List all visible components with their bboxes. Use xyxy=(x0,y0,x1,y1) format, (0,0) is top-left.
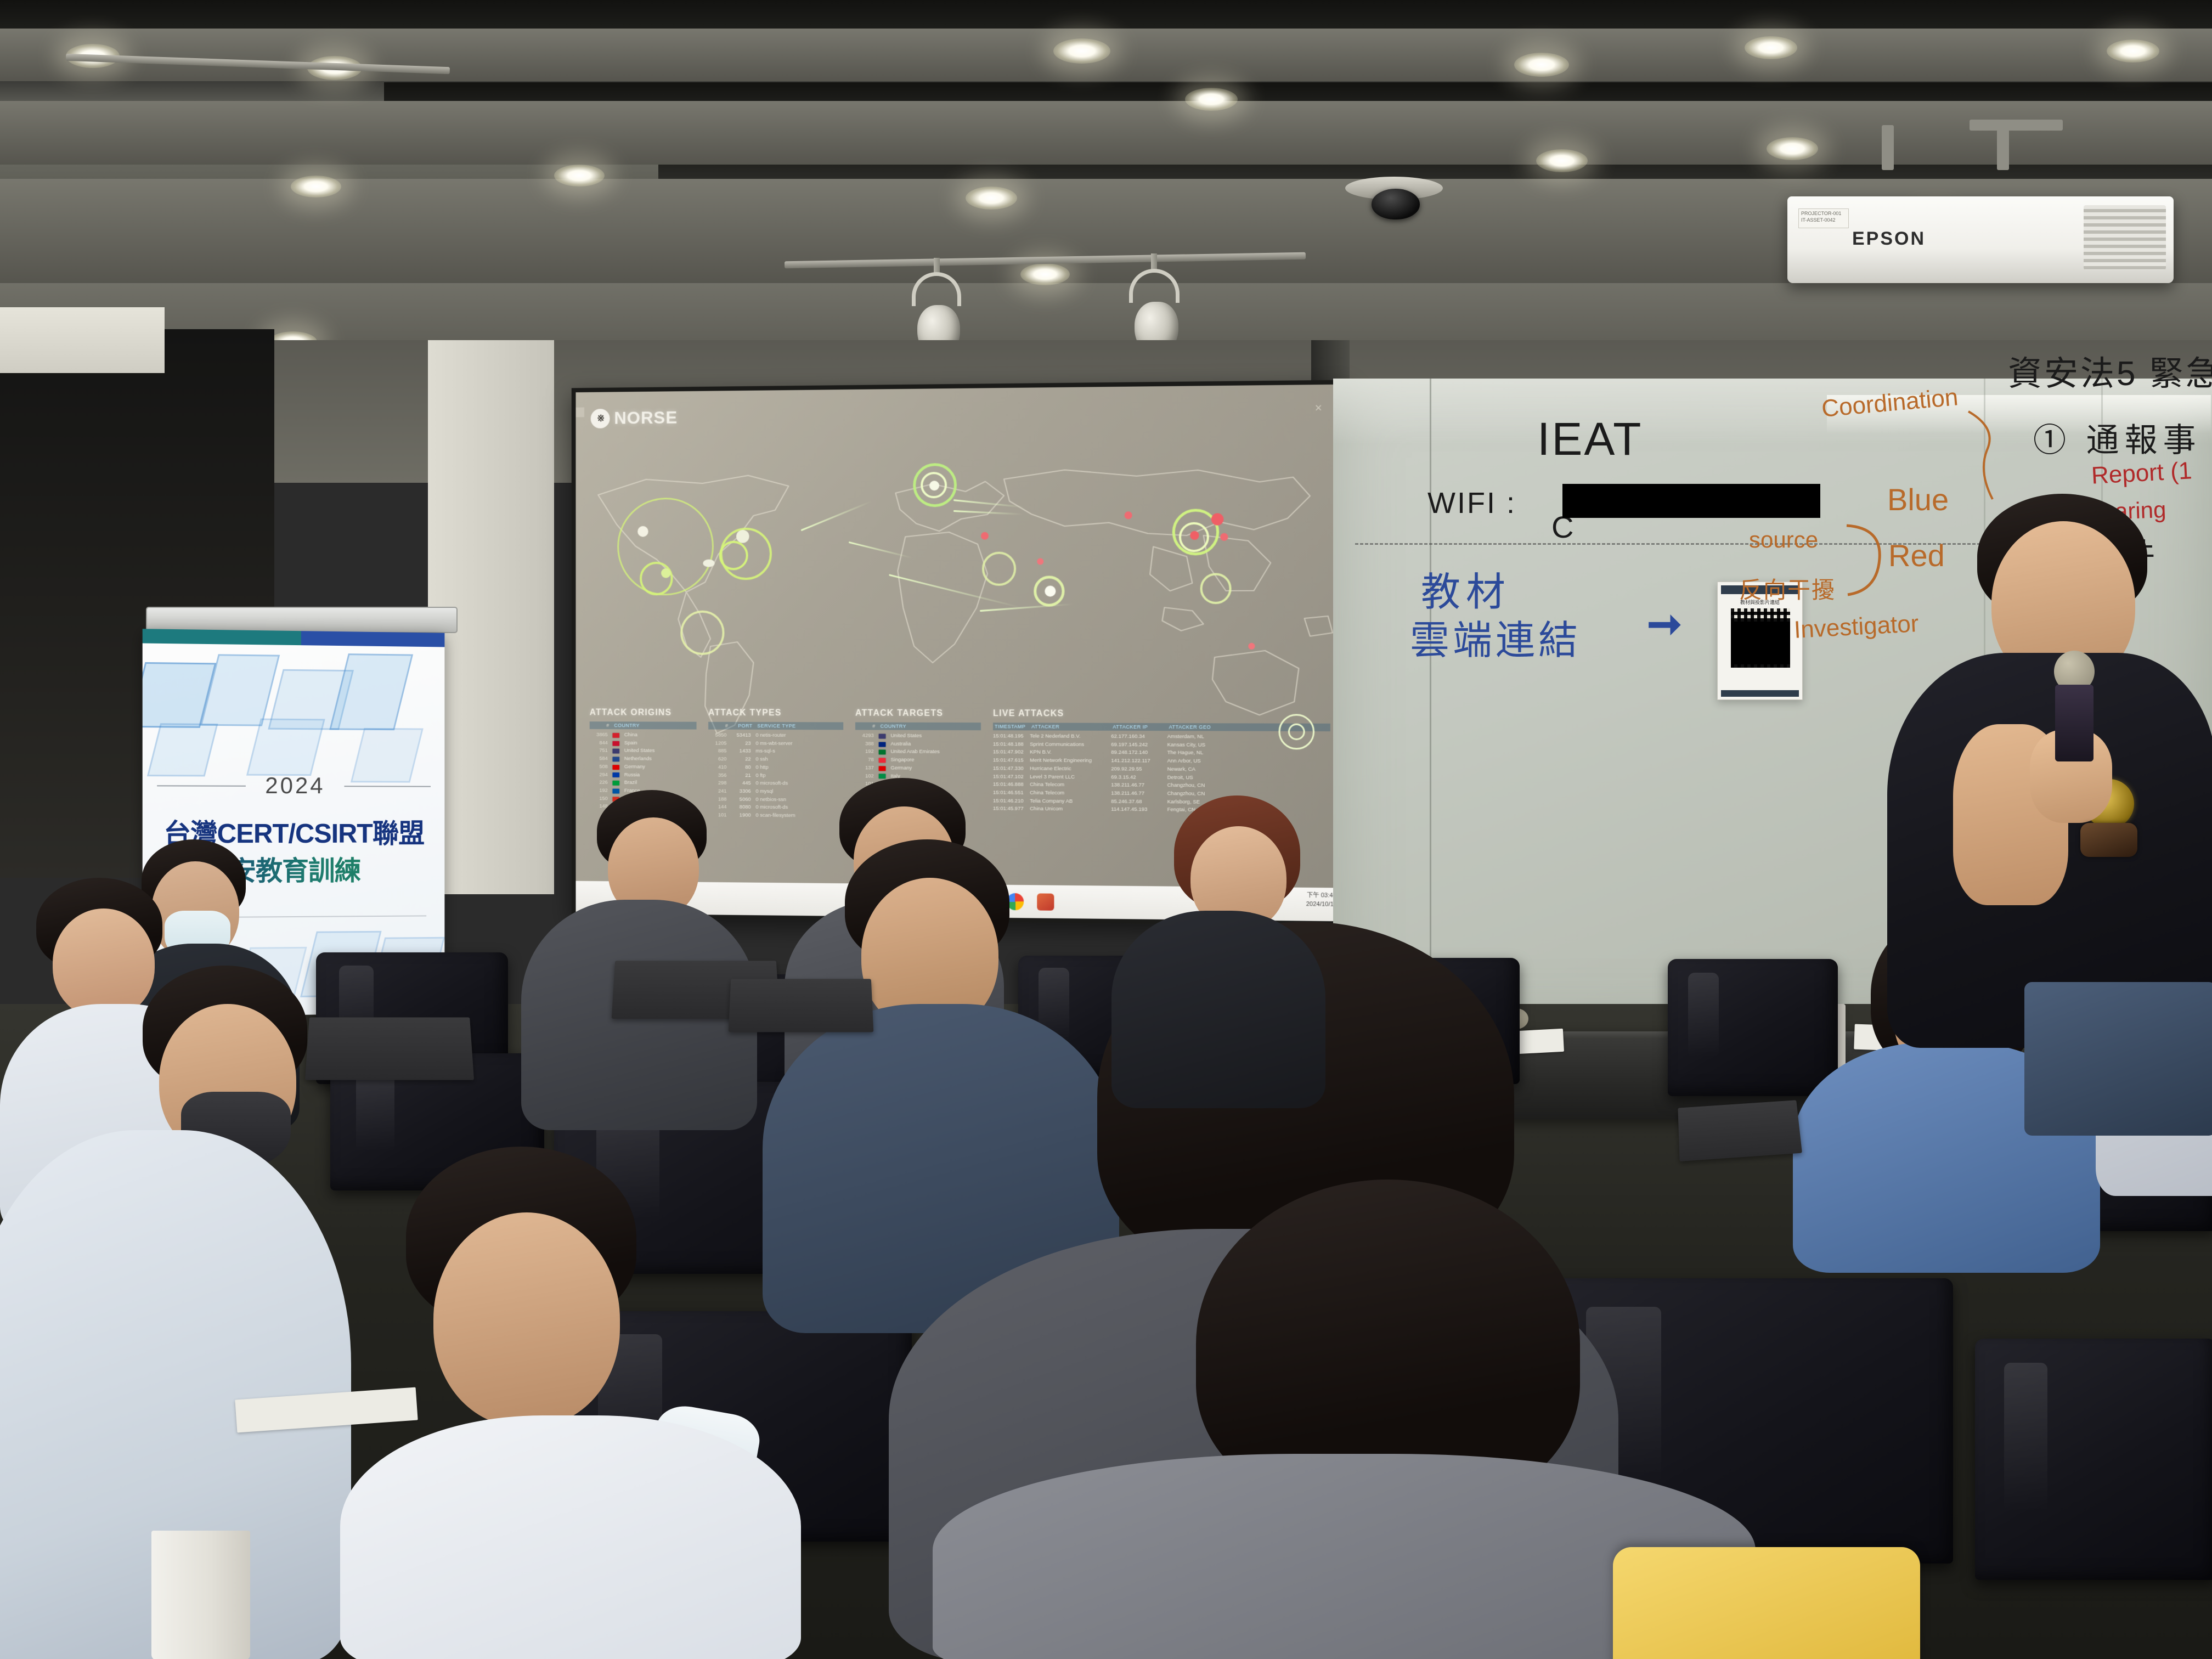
cell-service-type: 0 ftp xyxy=(755,772,765,780)
country-flag-icon xyxy=(879,733,886,738)
table-row: 2984450 microsoft-ds xyxy=(708,780,843,788)
cell-service-type: 0 microsoft-ds xyxy=(755,804,788,812)
table-row: 3865China xyxy=(590,731,697,740)
paper-cup xyxy=(151,1531,250,1659)
cell-port: 80 xyxy=(731,764,751,772)
cell-attacker: China Telecom xyxy=(1030,781,1106,790)
cell-count: 388 xyxy=(855,740,874,748)
cell-port: 21 xyxy=(731,772,751,780)
cell-attacker-ip: 138.211.46.77 xyxy=(1111,790,1162,798)
ceiling-band xyxy=(0,0,2212,29)
cell-port: 3306 xyxy=(731,788,751,796)
table-row: 226Brazil xyxy=(590,779,697,788)
wall-soffit xyxy=(0,307,165,373)
downlight xyxy=(1514,53,1569,77)
col-count: # xyxy=(710,723,728,729)
cell-service-type: 0 http xyxy=(755,764,768,772)
downlight xyxy=(1767,137,1818,160)
table-row: 137Germany xyxy=(855,764,981,773)
country-flag-icon xyxy=(612,765,619,770)
torso xyxy=(340,1415,801,1659)
cell-attacker: Tele 2 Nederland B.V. xyxy=(1030,732,1106,741)
table-row: 18850600 netbios-ssn xyxy=(708,795,843,804)
cell-attacker-geo: Kansas City, US xyxy=(1167,741,1228,749)
speaker-wristwatch xyxy=(2080,823,2137,857)
ceiling-slab xyxy=(0,101,2212,165)
projector: PROJECTOR-001 IT-ASSET-0042 EPSON xyxy=(1787,196,2174,283)
table-row: 5850534130 netis-router xyxy=(708,732,843,740)
country-flag-icon xyxy=(612,733,619,738)
cell-service-type: 0 scan-filesystem xyxy=(755,812,795,820)
cell-count: 751 xyxy=(590,747,608,755)
arrow-right-icon: ➞ xyxy=(1647,603,1682,645)
panel-rows: 15:01:48.195Tele 2 Nederland B.V.62.177.… xyxy=(993,732,1330,815)
cell-attacker: Telia Company AB xyxy=(1030,798,1106,806)
table-row: 356210 ftp xyxy=(708,771,843,780)
cell-port: 53413 xyxy=(731,732,751,740)
cell-timestamp: 15:01:46.888 xyxy=(993,781,1025,789)
photo-scene: PROJECTOR-001 IT-ASSET-0042 EPSON ※ NORS… xyxy=(0,0,2212,1659)
downlight xyxy=(1536,149,1588,172)
cell-country: Singapore xyxy=(890,757,914,765)
cell-count: 188 xyxy=(708,795,726,804)
cell-count: 192 xyxy=(590,787,608,795)
cell-count: 844 xyxy=(590,739,608,747)
panel-header-row: # PORT SERVICE TYPE xyxy=(708,722,843,730)
banner-year: 2024 xyxy=(143,772,445,799)
cell-count: 4293 xyxy=(855,732,874,740)
table-row: 24133060 mysql xyxy=(708,788,843,797)
panel-title: ATTACK TYPES xyxy=(708,708,843,718)
attack-blip xyxy=(1200,573,1232,604)
country-flag-icon xyxy=(879,774,886,779)
attack-blip xyxy=(1037,558,1043,565)
downlight xyxy=(2107,39,2159,63)
col-country: COUNTRY xyxy=(614,723,640,728)
cell-timestamp: 15:01:45.977 xyxy=(993,805,1025,814)
cell-service-type: 0 mysql xyxy=(755,788,773,796)
table-row: 584Netherlands xyxy=(590,755,697,763)
material-note-line2: 雲端連結 xyxy=(1410,608,1581,665)
attack-blip xyxy=(981,532,989,540)
powerpoint-icon[interactable] xyxy=(1037,893,1054,910)
cell-count: 192 xyxy=(855,748,874,757)
cell-service-type: ms-sql-s xyxy=(755,748,775,756)
col-attacker: ATTACKER xyxy=(1031,724,1108,729)
qr-redaction-bar xyxy=(1731,622,1790,664)
col-timestamp: TIMESTAMP xyxy=(995,724,1026,729)
norse-skull-icon: ※ xyxy=(591,409,610,428)
country-flag-icon xyxy=(879,766,886,771)
attack-blip xyxy=(637,526,648,537)
cell-count: 1205 xyxy=(708,740,726,748)
table-row: 844Spain xyxy=(590,739,697,747)
cell-timestamp: 15:01:47.102 xyxy=(993,773,1025,781)
cell-count: 150 xyxy=(590,795,608,803)
world-attack-map xyxy=(576,424,1345,747)
cell-attacker: Hurricane Electric xyxy=(1030,765,1106,773)
banner-decor-tile xyxy=(329,653,413,730)
cell-service-type: 0 ssh xyxy=(755,756,768,764)
screenshot-indicator-icon xyxy=(576,408,585,417)
banner-decor-tile xyxy=(246,719,325,776)
note-source: source xyxy=(1749,527,1818,553)
close-icon[interactable]: × xyxy=(1312,402,1325,415)
col-attacker-ip: ATTACKER IP xyxy=(1113,724,1164,730)
table-row: 4293United States xyxy=(855,732,981,740)
cell-attacker: Merit Network Engineering xyxy=(1030,757,1106,765)
downlight xyxy=(1020,263,1070,285)
downlight xyxy=(1185,88,1238,111)
cell-count: 144 xyxy=(708,804,726,812)
note-blue: Blue xyxy=(1887,482,1949,517)
downlight xyxy=(291,176,341,198)
attack-blip xyxy=(1248,643,1255,650)
country-flag-icon xyxy=(612,781,619,786)
head xyxy=(433,1212,620,1426)
projector-vent xyxy=(2084,205,2166,270)
table-row: 388Australia xyxy=(855,740,981,749)
cell-service-type: 0 netis-router xyxy=(755,732,786,740)
col-port: PORT xyxy=(733,723,752,729)
cell-attacker-geo: Ann Arbor, US xyxy=(1167,758,1228,766)
attack-blip xyxy=(661,568,671,578)
attack-blip xyxy=(1045,586,1056,597)
wifi-label: WIFI : xyxy=(1427,486,1516,520)
panel-header-row: # COUNTRY xyxy=(855,723,981,731)
cell-attacker-ip: 89.248.172.140 xyxy=(1111,749,1162,758)
cell-service-type: 0 ms-wbt-server xyxy=(755,740,792,748)
cell-timestamp: 15:01:46.210 xyxy=(993,797,1025,805)
cell-count: 294 xyxy=(590,771,608,779)
cell-attacker-geo: Amsterdam, NL xyxy=(1167,733,1228,741)
cell-attacker: China Telecom xyxy=(1030,789,1106,798)
chair[interactable] xyxy=(1668,959,1838,1096)
panel-rows: 5850534130 netis-router1205230 ms-wbt-se… xyxy=(708,732,843,821)
country-flag-icon xyxy=(879,742,886,747)
laptop[interactable] xyxy=(1678,1100,1802,1161)
table-row: 192United Arab Emirates xyxy=(855,748,981,757)
taskbar-clock[interactable]: 下午 03:46 2024/10/17 xyxy=(1306,891,1338,910)
cell-count: 410 xyxy=(708,764,726,772)
cell-count: 241 xyxy=(708,788,726,796)
attack-blip xyxy=(1190,531,1199,540)
note-report-en: Report (1 xyxy=(2091,457,2193,490)
cell-attacker-geo: Detroit, US xyxy=(1167,774,1228,782)
col-count: # xyxy=(591,723,610,728)
cell-country: Netherlands xyxy=(624,755,652,764)
clock-date: 2024/10/17 xyxy=(1306,900,1338,910)
cell-country: Russia xyxy=(624,771,640,780)
qr-sheet-footer-bar xyxy=(1721,690,1799,697)
cell-attacker: KPN B.V. xyxy=(1030,749,1106,757)
country-flag-icon xyxy=(612,772,619,777)
cell-port: 1900 xyxy=(731,812,751,820)
table-row: 10119000 scan-filesystem xyxy=(708,811,843,820)
microphone-icon xyxy=(2055,685,2093,761)
attack-blip xyxy=(640,562,673,595)
cell-country: United States xyxy=(624,747,655,755)
cell-timestamp: 15:01:48.195 xyxy=(993,732,1025,741)
cell-count: 3865 xyxy=(590,731,608,740)
cell-count: 78 xyxy=(855,756,874,764)
cell-service-type: 0 netbios-ssn xyxy=(755,796,786,804)
laptop[interactable] xyxy=(729,979,874,1032)
cell-attacker-geo: Changzhou, CN xyxy=(1167,782,1228,790)
projector-mount xyxy=(1882,125,1894,170)
panel-title: LIVE ATTACKS xyxy=(993,709,1330,720)
attack-blip xyxy=(703,560,715,567)
panel-attack-types: ATTACK TYPES # PORT SERVICE TYPE 5850534… xyxy=(708,708,843,883)
norse-logo: ※ NORSE xyxy=(591,408,678,428)
wifi-redaction-bar xyxy=(1562,484,1820,518)
projector-brand: EPSON xyxy=(1852,228,1926,250)
cell-timestamp: 15:01:47.615 xyxy=(993,757,1025,765)
col-country: COUNTRY xyxy=(881,724,907,729)
note-security-law: 資安法5 緊急 xyxy=(2008,346,2212,395)
cell-country: Australia xyxy=(890,740,911,748)
note-coordination: Coordination xyxy=(1820,383,1959,423)
whiteboard-heading: IEAT xyxy=(1537,413,1643,466)
downlight xyxy=(554,165,605,187)
country-flag-icon xyxy=(612,757,619,761)
cell-country: United States xyxy=(890,732,922,741)
cell-service-type: 0 microsoft-ds xyxy=(755,780,788,788)
yellow-bag xyxy=(1613,1547,1920,1659)
country-flag-icon xyxy=(612,741,619,746)
cell-timestamp: 15:01:48.188 xyxy=(993,741,1025,749)
cell-attacker-ip: 69.197.145.242 xyxy=(1111,741,1162,749)
cell-count: 298 xyxy=(708,780,726,788)
country-flag-icon xyxy=(879,750,886,755)
cell-country: United Arab Emirates xyxy=(890,748,939,757)
table-row: 751United States xyxy=(590,747,697,755)
cell-timestamp: 15:01:47.902 xyxy=(993,749,1025,757)
cell-attacker-geo: Newark, CA xyxy=(1167,766,1228,774)
speaker-jeans xyxy=(2024,982,2212,1136)
cell-attacker: China Unicom xyxy=(1030,805,1106,814)
table-row: 294Russia xyxy=(590,771,697,779)
projector-mount xyxy=(1970,120,2063,131)
cell-count: 137 xyxy=(855,764,874,772)
cell-attacker-ip: 114.147.45.193 xyxy=(1111,806,1162,814)
cell-count: 5850 xyxy=(708,732,726,740)
chair[interactable] xyxy=(1975,1339,2212,1580)
ceiling-band xyxy=(384,82,2212,101)
cell-port: 8080 xyxy=(731,804,751,812)
cell-attacker-ip: 141.212.122.117 xyxy=(1111,757,1162,765)
cell-port: 23 xyxy=(731,740,751,748)
cell-attacker-ip: 69.3.15.42 xyxy=(1111,774,1162,782)
country-flag-icon xyxy=(879,758,886,763)
note-connector-line xyxy=(1964,406,2035,510)
cell-attacker-ip: 138.211.46.77 xyxy=(1111,782,1162,790)
attack-blip xyxy=(982,552,1016,586)
table-row: 508Germany xyxy=(590,763,697,771)
downlight xyxy=(1745,36,1797,59)
cell-count: 508 xyxy=(590,763,608,771)
clock-time: 下午 03:46 xyxy=(1306,891,1338,901)
attack-blip xyxy=(719,541,748,571)
table-row: 410800 http xyxy=(708,764,843,772)
panel-header-row: # COUNTRY xyxy=(590,721,697,729)
cell-count: 885 xyxy=(708,748,726,756)
cell-attacker-ip: 62.177.160.34 xyxy=(1111,733,1162,741)
note-investigator: Investigator xyxy=(1793,610,1920,644)
note-counter-interference: 反向干擾 xyxy=(1739,572,1836,605)
cell-attacker: Sprint Communications xyxy=(1030,741,1106,749)
cell-timestamp: 15:01:47.330 xyxy=(993,765,1025,773)
attack-blip xyxy=(736,530,749,543)
attack-blip xyxy=(929,481,939,490)
whiteboard-seam xyxy=(1430,379,1431,1031)
table-row: 78Singapore xyxy=(855,756,981,765)
laptop[interactable] xyxy=(305,1017,474,1080)
norse-wordmark: NORSE xyxy=(614,408,678,428)
cell-count: 584 xyxy=(590,755,608,763)
cell-attacker-geo: The Hague, NL xyxy=(1167,749,1228,758)
cell-count: 102 xyxy=(855,772,874,781)
col-service-type: SERVICE TYPE xyxy=(757,723,795,729)
col-count: # xyxy=(857,724,876,729)
cell-count: 101 xyxy=(708,811,726,820)
col-attacker-geo: ATTACKER GEO xyxy=(1169,724,1229,730)
downlight xyxy=(1053,38,1110,64)
table-row: 1205230 ms-wbt-server xyxy=(708,740,843,748)
country-flag-icon xyxy=(612,749,619,754)
shield-target-icon xyxy=(1278,714,1314,749)
head xyxy=(53,909,155,1018)
downlight xyxy=(966,187,1017,210)
attack-blip xyxy=(1220,533,1228,541)
torso xyxy=(1111,911,1325,1108)
attack-blip xyxy=(1125,511,1132,519)
panel-title: ATTACK ORIGINS xyxy=(590,708,697,718)
cell-count: 356 xyxy=(708,771,726,780)
table-row: 14480800 microsoft-ds xyxy=(708,804,843,812)
cell-port: 5060 xyxy=(731,795,751,804)
cell-port: 445 xyxy=(731,780,751,788)
cell-country: Spain xyxy=(624,740,637,748)
cell-country: Germany xyxy=(890,764,912,772)
cell-country: China xyxy=(624,731,637,740)
panel-title: ATTACK TARGETS xyxy=(855,709,981,719)
banner-decor-tile xyxy=(147,723,218,776)
cell-attacker-geo: Changzhou, CN xyxy=(1167,790,1228,798)
note-brace xyxy=(1843,520,1904,602)
table-row: 620220 ssh xyxy=(708,755,843,764)
cell-count: 620 xyxy=(708,755,726,764)
cell-country: Brazil xyxy=(624,779,637,787)
cell-attacker-ip: 209.92.29.55 xyxy=(1111,765,1162,774)
attack-blip xyxy=(680,611,724,655)
cell-port: 22 xyxy=(731,756,751,764)
cell-port: 1433 xyxy=(731,748,751,756)
cell-count: 226 xyxy=(590,779,608,787)
country-flag-icon xyxy=(612,789,619,794)
cell-attacker: Level 3 Parent LLC xyxy=(1030,773,1106,781)
cell-attacker-ip: 85.246.37.68 xyxy=(1111,798,1162,806)
dome-camera-icon xyxy=(1372,189,1420,219)
cell-country: Germany xyxy=(624,763,645,771)
attack-blip xyxy=(1211,513,1223,525)
ceiling-band xyxy=(658,165,2212,179)
projector-asset-label: PROJECTOR-001 IT-ASSET-0042 xyxy=(1798,208,1849,228)
cell-timestamp: 15:01:46.551 xyxy=(993,789,1025,797)
note-report-item: ① 通報事 xyxy=(2033,414,2202,461)
table-row: 8851433ms-sql-s xyxy=(708,748,843,757)
